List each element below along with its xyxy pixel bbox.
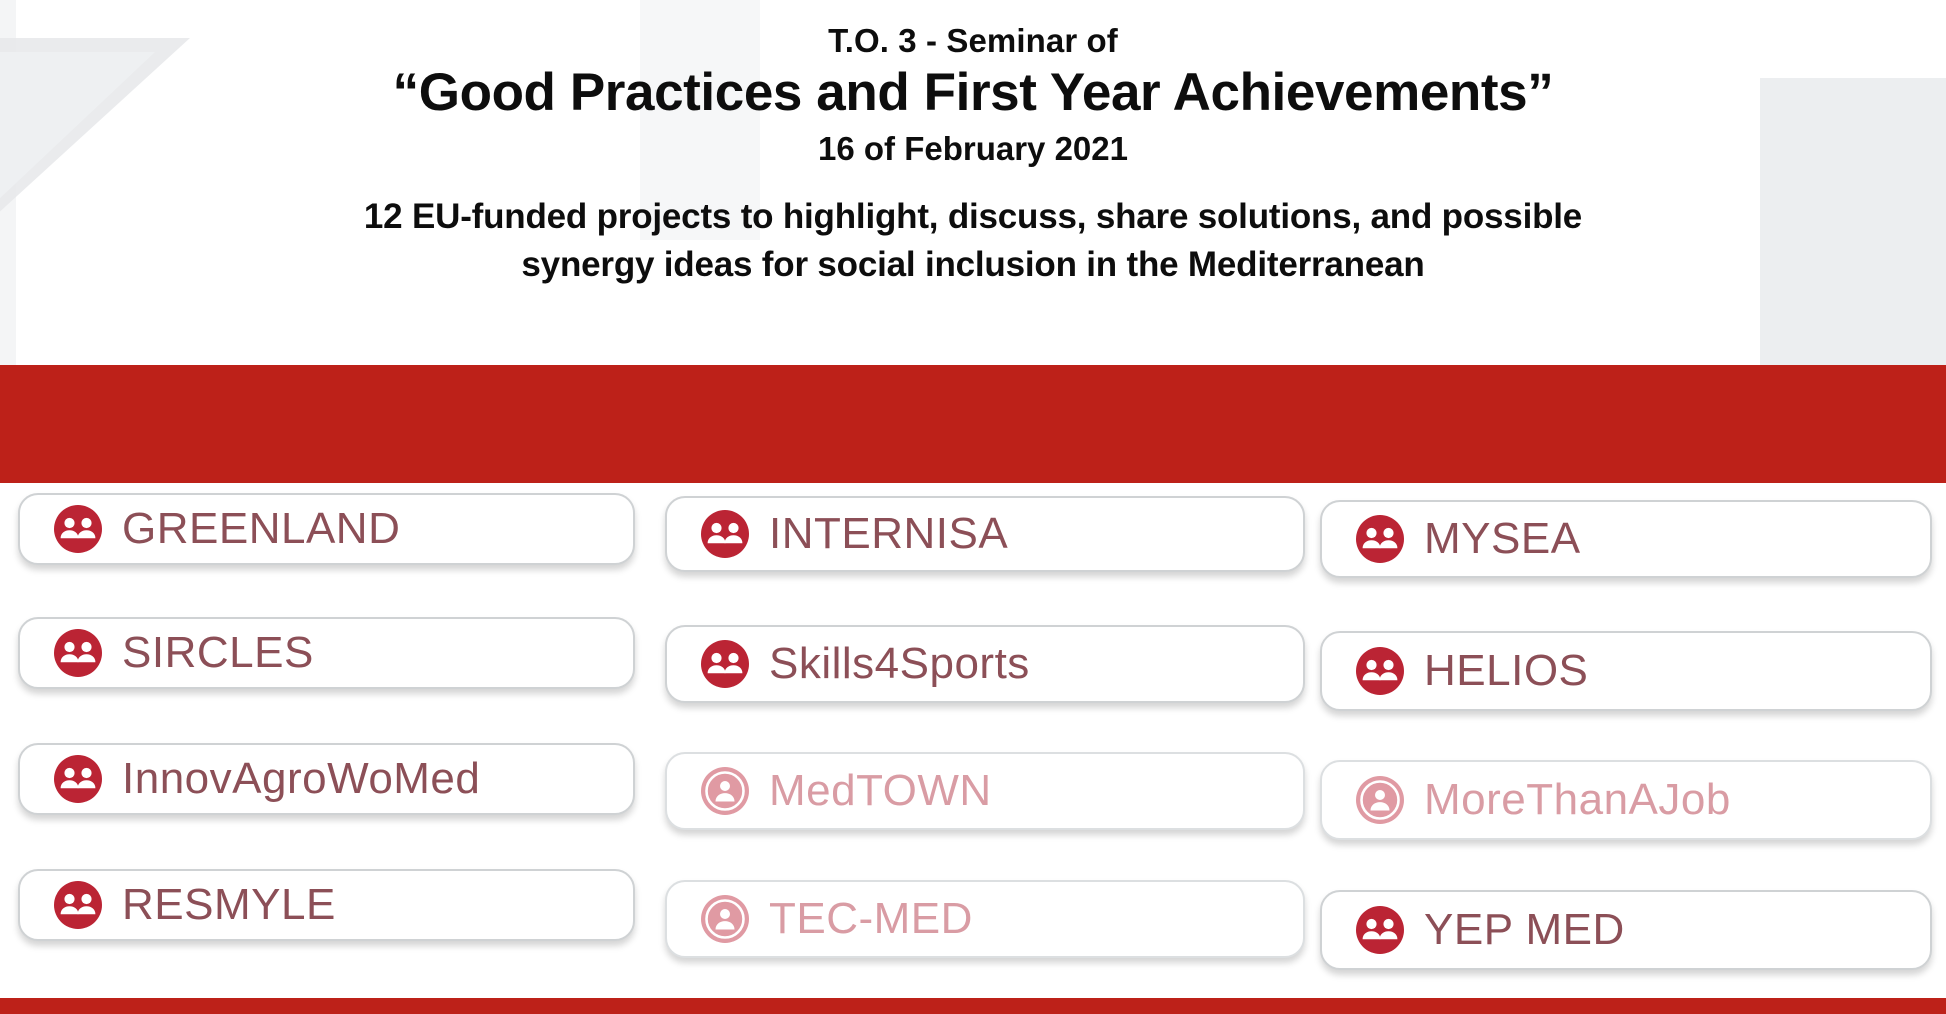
- project-name: Skills4Sports: [769, 642, 1030, 686]
- two-people-icon: [701, 640, 749, 688]
- project-card[interactable]: MYSEA: [1320, 500, 1932, 578]
- project-card[interactable]: YEP MED: [1320, 890, 1932, 970]
- project-card[interactable]: TEC-MED: [665, 880, 1305, 958]
- project-name: MoreThanAJob: [1424, 778, 1731, 822]
- project-card[interactable]: Skills4Sports: [665, 625, 1305, 703]
- single-person-icon: [701, 767, 749, 815]
- two-people-icon: [701, 510, 749, 558]
- project-grid: GREENLANDSIRCLESInnovAgroWoMedRESMYLEINT…: [0, 0, 1946, 1014]
- seminar-poster: T.O. 3 - Seminar of “Good Practices and …: [0, 0, 1946, 1014]
- project-card[interactable]: SIRCLES: [18, 617, 635, 689]
- project-name: MYSEA: [1424, 517, 1581, 561]
- project-name: YEP MED: [1424, 908, 1625, 952]
- project-card[interactable]: INTERNISA: [665, 496, 1305, 572]
- project-name: MedTOWN: [769, 769, 992, 813]
- single-person-icon: [1356, 776, 1404, 824]
- project-card[interactable]: MedTOWN: [665, 752, 1305, 830]
- project-name: HELIOS: [1424, 649, 1588, 693]
- project-card[interactable]: InnovAgroWoMed: [18, 743, 635, 815]
- project-name: SIRCLES: [122, 631, 314, 675]
- single-person-icon: [701, 895, 749, 943]
- project-name: RESMYLE: [122, 883, 336, 927]
- project-card[interactable]: MoreThanAJob: [1320, 760, 1932, 840]
- project-card[interactable]: GREENLAND: [18, 493, 635, 565]
- project-card[interactable]: RESMYLE: [18, 869, 635, 941]
- two-people-icon: [54, 755, 102, 803]
- project-card[interactable]: HELIOS: [1320, 631, 1932, 711]
- two-people-icon: [1356, 647, 1404, 695]
- two-people-icon: [54, 881, 102, 929]
- project-name: InnovAgroWoMed: [122, 757, 480, 801]
- two-people-icon: [54, 505, 102, 553]
- two-people-icon: [1356, 906, 1404, 954]
- project-name: GREENLAND: [122, 507, 400, 551]
- project-name: INTERNISA: [769, 512, 1008, 556]
- project-name: TEC-MED: [769, 897, 973, 941]
- two-people-icon: [1356, 515, 1404, 563]
- two-people-icon: [54, 629, 102, 677]
